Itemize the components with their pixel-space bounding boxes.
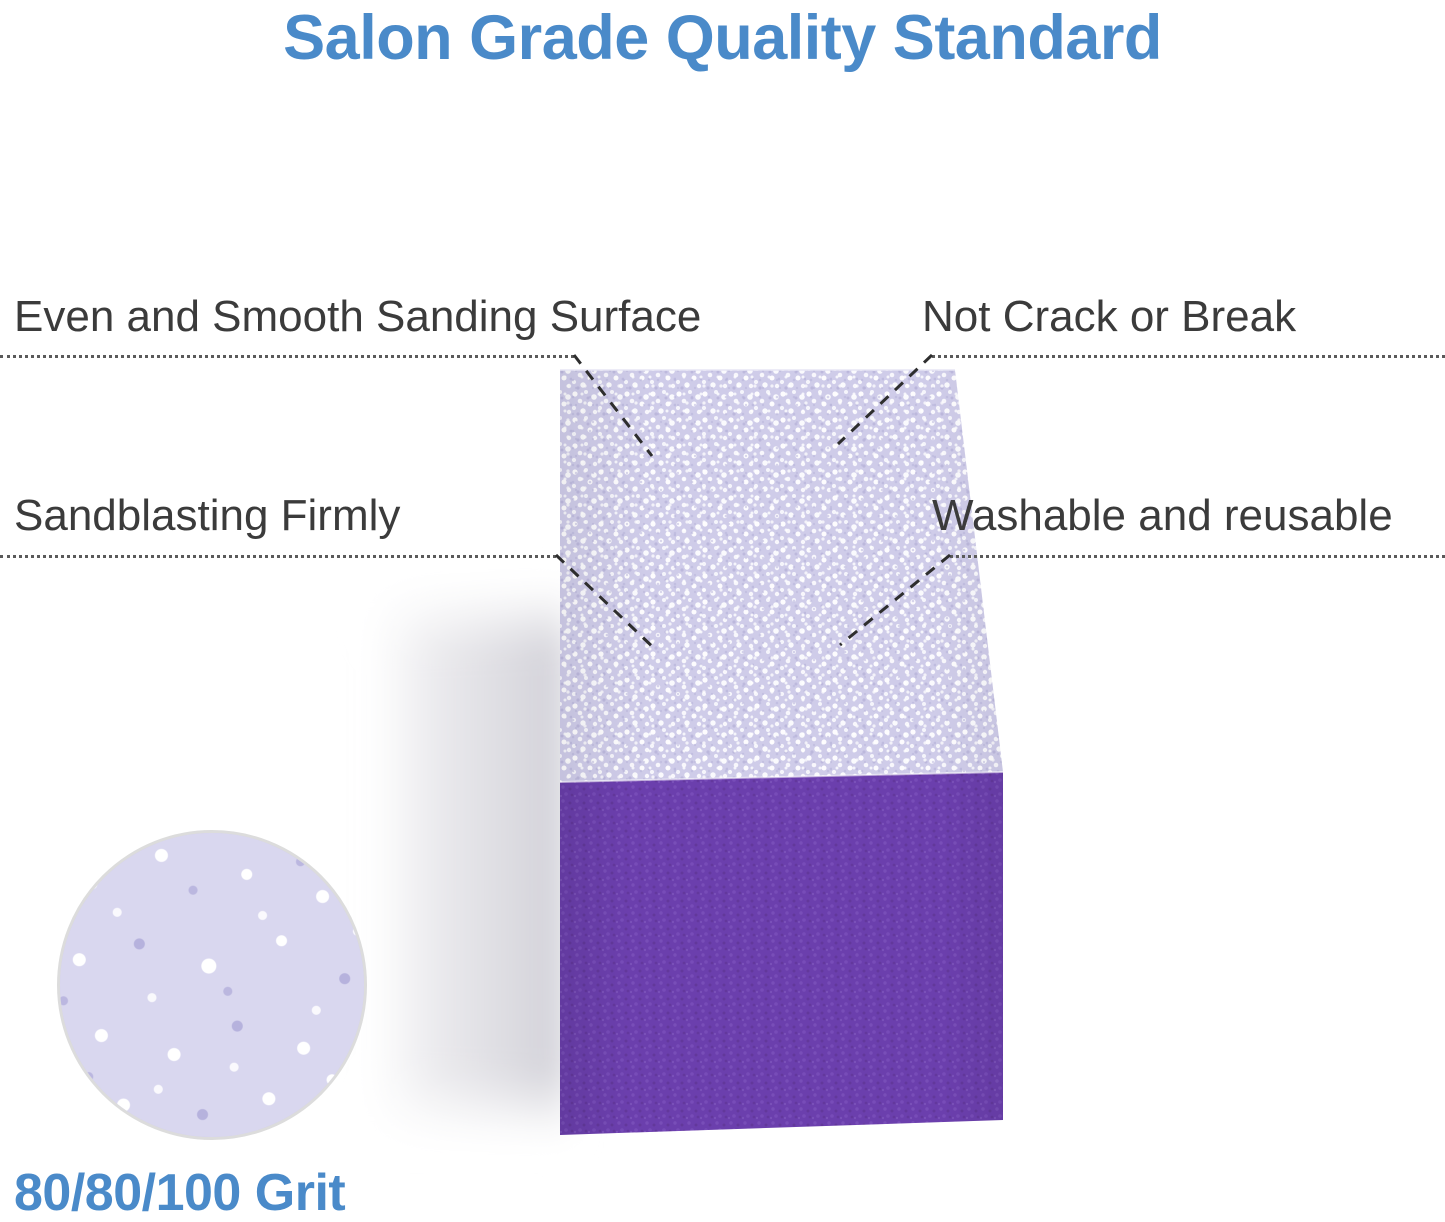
- leader-line-sandblasting: [556, 555, 656, 650]
- feature-label-not-crack: Not Crack or Break: [922, 292, 1296, 342]
- feature-label-even-smooth: Even and Smooth Sanding Surface: [14, 292, 701, 342]
- grit-caption: 80/80/100 Grit: [14, 1163, 345, 1222]
- infographic-canvas: Salon Grade Quality Standard: [0, 0, 1445, 1222]
- leader-line-not-crack: [838, 355, 932, 444]
- grit-closeup-circle: [57, 830, 367, 1140]
- feature-label-washable: Washable and reusable: [932, 491, 1393, 541]
- grit-texture-layer-2: [57, 830, 367, 1140]
- leader-line-even-smooth: [574, 355, 652, 456]
- leader-line-washable: [840, 555, 950, 645]
- feature-label-sandblasting: Sandblasting Firmly: [14, 491, 400, 541]
